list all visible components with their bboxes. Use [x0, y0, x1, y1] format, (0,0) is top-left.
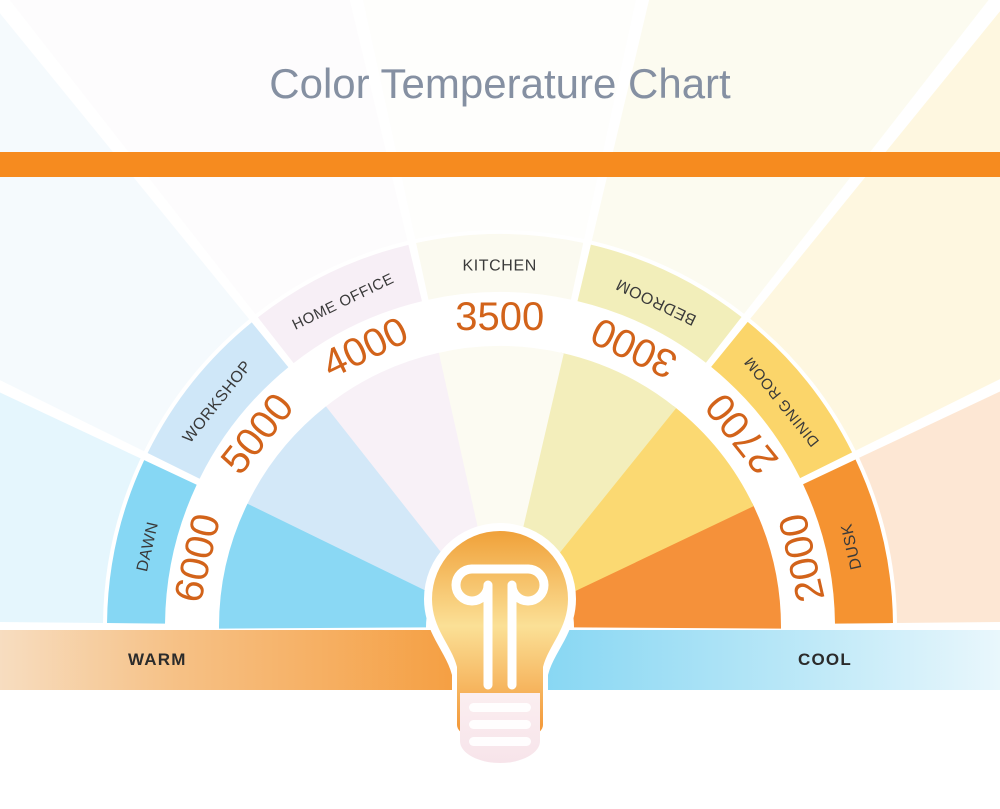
bulb-base-rib [469, 720, 531, 729]
segment-value-label: 3500 [455, 295, 544, 339]
cool-bar [500, 630, 1000, 690]
cool-label: COOL [798, 650, 852, 670]
bulb-base-rib [469, 737, 531, 746]
infographic-canvas: Color Temperature Chart [0, 0, 1000, 809]
color-temperature-dial: DUSK2000DINING ROOM2700BEDROOM3000KITCHE… [0, 0, 1000, 809]
bulb-base-rib [469, 703, 531, 712]
segment-name-label: KITCHEN [462, 257, 536, 274]
warm-bar [0, 630, 500, 690]
light-bulb-icon [424, 523, 576, 765]
warm-label: WARM [128, 650, 187, 670]
